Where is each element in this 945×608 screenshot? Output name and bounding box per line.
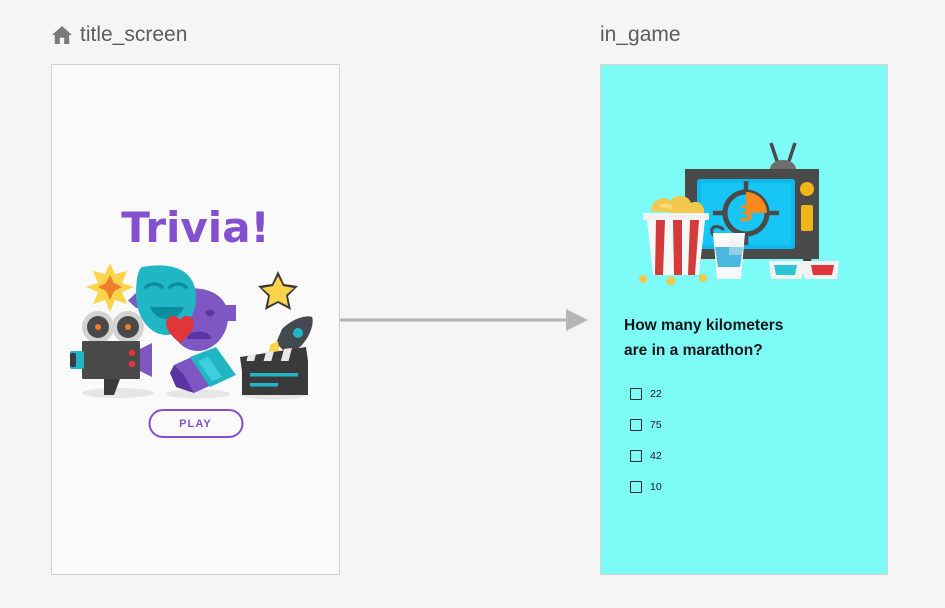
answer-checkbox[interactable] [630, 481, 642, 493]
3d-glasses-icon [769, 261, 839, 279]
screen-label-text: title_screen [80, 23, 187, 47]
screen-frame-title-screen[interactable]: Trivia! [51, 64, 340, 575]
soda-cup-icon [713, 233, 745, 279]
answer-option[interactable]: 42 [630, 449, 830, 463]
answer-checkbox[interactable] [630, 388, 642, 400]
answer-label: 42 [650, 450, 662, 462]
tv-movie-night-illustration: 3 [629, 133, 845, 285]
question-text: How many kilometers are in a marathon? [624, 313, 854, 363]
answer-option[interactable]: 10 [630, 480, 830, 494]
question-line: How many kilometers [624, 313, 854, 338]
answer-label: 10 [650, 481, 662, 493]
answer-options-list: 22 75 42 10 [630, 387, 830, 511]
screen-label-text: in_game [600, 23, 681, 47]
answer-checkbox[interactable] [630, 450, 642, 462]
flow-canvas: title_screen in_game Trivia! [0, 0, 945, 608]
svg-text:3: 3 [739, 202, 754, 226]
clapperboard-icon [240, 347, 308, 400]
star-icon [258, 271, 298, 310]
popcorn-icon [639, 196, 709, 285]
home-icon [51, 25, 73, 45]
answer-label: 75 [650, 419, 662, 431]
flow-arrow[interactable] [340, 305, 588, 335]
screen-label-in-game[interactable]: in_game [600, 23, 681, 47]
question-line: are in a marathon? [624, 338, 854, 363]
answer-label: 22 [650, 388, 662, 400]
game-title: Trivia! [52, 203, 339, 252]
answer-checkbox[interactable] [630, 419, 642, 431]
movie-camera-icon [70, 311, 154, 398]
answer-option[interactable]: 22 [630, 387, 830, 401]
screen-label-title-screen[interactable]: title_screen [51, 23, 187, 47]
answer-option[interactable]: 75 [630, 418, 830, 432]
screen-frame-in-game[interactable]: 3 [600, 64, 888, 575]
play-button[interactable]: PLAY [148, 409, 243, 438]
tickets-icon [166, 347, 236, 399]
entertainment-icons-illustration [70, 255, 322, 405]
starburst-icon [86, 263, 134, 312]
